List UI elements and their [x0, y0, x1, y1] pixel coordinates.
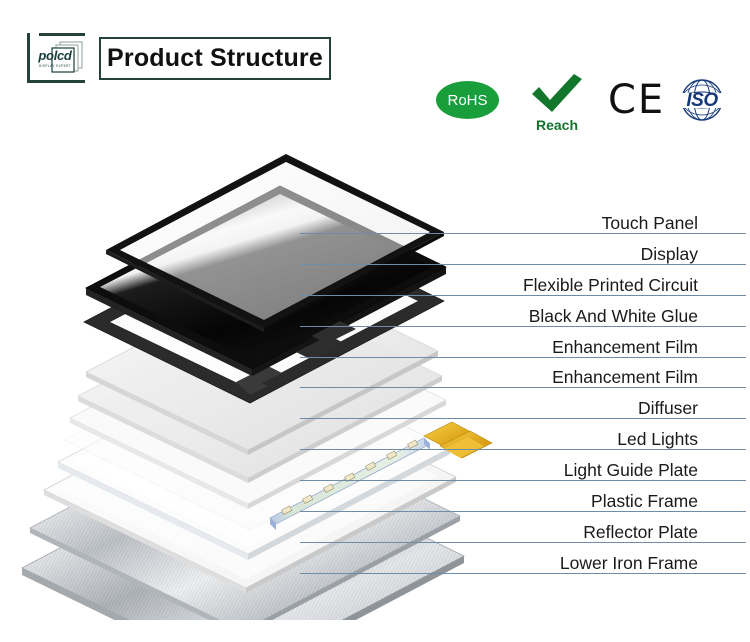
callout-label: Display	[641, 244, 746, 264]
callout-row-black-and-white-glue: Black And White Glue	[300, 300, 746, 327]
callout-row-plastic-frame: Plastic Frame	[300, 485, 746, 512]
callout-row-diffuser: Diffuser	[300, 392, 746, 419]
callout-row-led-lights: Led Lights	[300, 423, 746, 450]
callout-label: Enhancement Film	[552, 367, 746, 387]
callout-label: Black And White Glue	[529, 306, 746, 326]
callout-row-flexible-printed-circuit: Flexible Printed Circuit	[300, 269, 746, 296]
callout-label: Diffuser	[638, 398, 746, 418]
callout-label: Touch Panel	[602, 213, 746, 233]
callout-row-display: Display	[300, 238, 746, 265]
callout-row-lower-iron-frame: Lower Iron Frame	[300, 547, 746, 574]
callout-label: Reflector Plate	[583, 522, 746, 542]
callout-row-touch-panel: Touch Panel	[300, 207, 746, 234]
callout-label-list: Touch Panel Display Flexible Printed Cir…	[0, 0, 750, 642]
callout-label: Plastic Frame	[591, 491, 746, 511]
logo-tagline: DISPLAY EXPERT	[39, 64, 71, 68]
callout-row-reflector-plate: Reflector Plate	[300, 516, 746, 543]
callout-row-enhancement-film-1: Enhancement Film	[300, 331, 746, 358]
callout-label: Enhancement Film	[552, 337, 746, 357]
callout-label: Flexible Printed Circuit	[523, 275, 746, 295]
logo-wordmark: polcd	[38, 48, 71, 63]
callout-row-enhancement-film-2: Enhancement Film	[300, 361, 746, 388]
callout-label: Light Guide Plate	[564, 460, 746, 480]
product-structure-page: polcd DISPLAY EXPERT Product Structure R…	[0, 0, 750, 642]
callout-label: Led Lights	[617, 429, 746, 449]
callout-row-light-guide-plate: Light Guide Plate	[300, 454, 746, 481]
callout-label: Lower Iron Frame	[560, 553, 746, 573]
